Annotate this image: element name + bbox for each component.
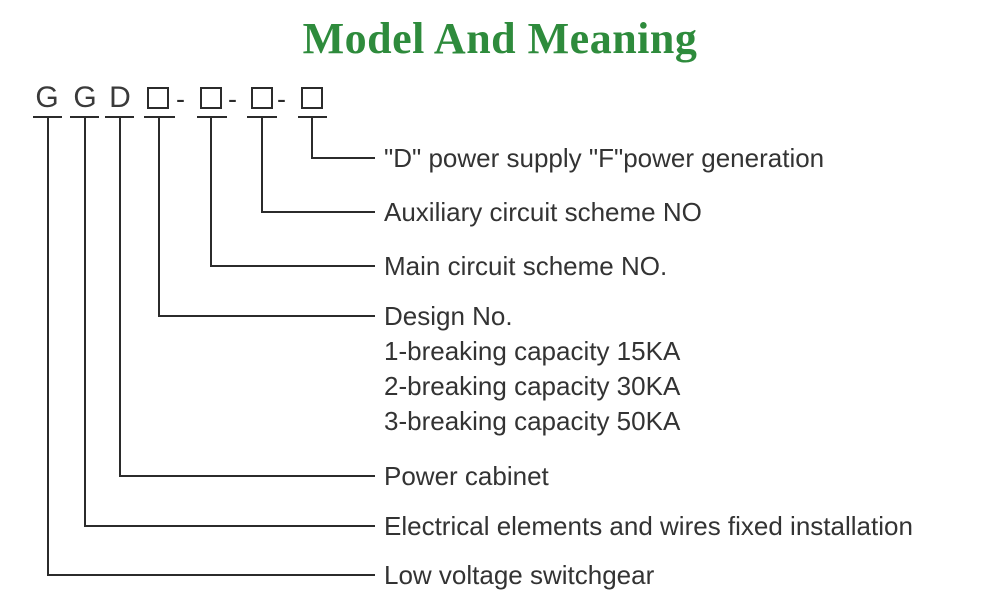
callout-main-circuit: Main circuit scheme NO. [384, 249, 667, 284]
callout-design-no-line-2: 2-breaking capacity 30KA [384, 369, 680, 404]
callout-design-no-line-3: 3-breaking capacity 50KA [384, 404, 680, 439]
callout-design-no-line-1: 1-breaking capacity 15KA [384, 334, 680, 369]
callout-electrical-elements: Electrical elements and wires fixed inst… [384, 509, 913, 544]
callout-power-supply-generation: "D" power supply "F"power generation [384, 141, 824, 176]
callout-design-no-title: Design No. [384, 299, 680, 334]
callout-design-no: Design No. 1-breaking capacity 15KA 2-br… [384, 299, 680, 439]
callout-auxiliary-circuit: Auxiliary circuit scheme NO [384, 195, 702, 230]
model-and-meaning-diagram: Model And Meaning G G D - - - [0, 0, 1000, 616]
callout-low-voltage-switchgear: Low voltage switchgear [384, 558, 654, 593]
callout-power-cabinet: Power cabinet [384, 459, 549, 494]
